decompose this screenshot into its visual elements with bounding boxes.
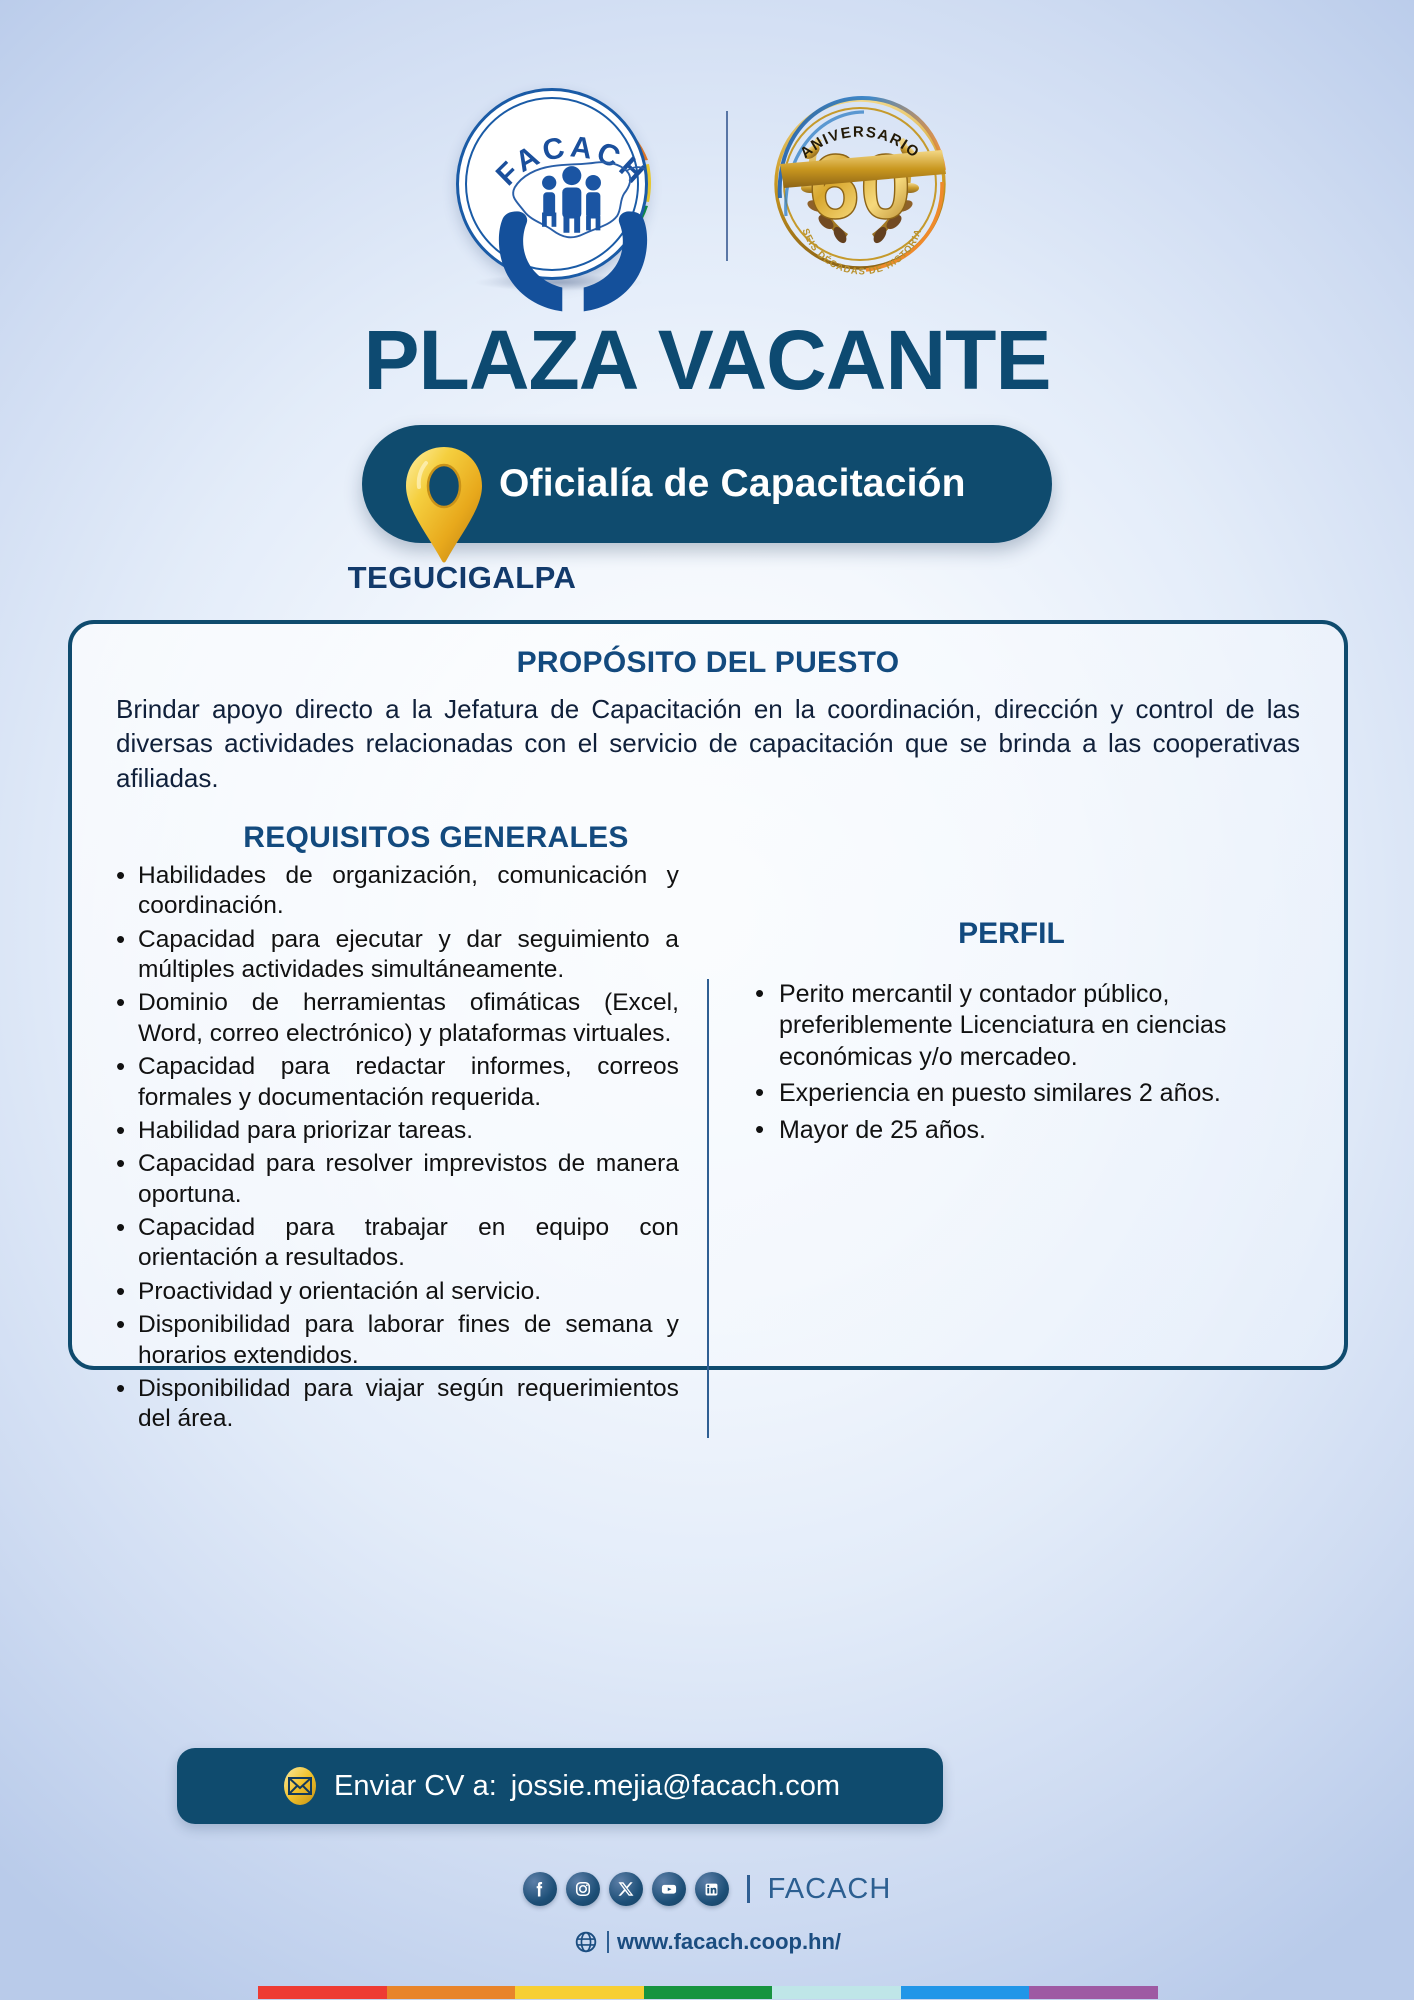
linkedin-icon[interactable] <box>695 1872 729 1906</box>
stripe-segment-blue <box>901 1986 1030 1999</box>
stripe-segment-cyan <box>772 1986 901 1999</box>
website-row[interactable]: www.facach.coop.hn/ <box>0 1929 1414 1955</box>
anniversary-logo: 60 ANIVERSARIO SEIS DÉCADAS DE HISTORIA <box>756 78 966 293</box>
svg-text:60: 60 <box>809 136 911 238</box>
facebook-icon[interactable] <box>523 1872 557 1906</box>
facach-logo: FACACH <box>448 78 698 293</box>
page-title: PLAZA VACANTE <box>0 312 1414 409</box>
list-item: Perito mercantil y contador público, pre… <box>749 979 1314 1074</box>
contact-email[interactable]: jossie.mejia@facach.com <box>511 1770 840 1803</box>
list-item: Capacidad para ejecutar y dar seguimient… <box>108 925 679 986</box>
details-card: PROPÓSITO DEL PUESTO Brindar apoyo direc… <box>68 620 1348 1370</box>
stripe-segment-green <box>644 1986 773 1999</box>
logo-divider <box>726 111 728 261</box>
website-divider <box>607 1931 609 1953</box>
list-item: Capacidad para redactar informes, correo… <box>108 1052 679 1113</box>
requirements-list: Habilidades de organización, comunicació… <box>108 861 679 1435</box>
list-item: Mayor de 25 años. <box>749 1115 1314 1147</box>
social-row: FACACH <box>0 1872 1414 1906</box>
profile-column: PERFIL Perito mercantil y contador públi… <box>707 979 1314 1438</box>
logo-row: FACACH <box>0 78 1414 293</box>
list-item: Capacidad para trabajar en equipo con or… <box>108 1213 679 1274</box>
purpose-heading: PROPÓSITO DEL PUESTO <box>102 646 1314 680</box>
poster-root: FACACH <box>0 0 1414 2000</box>
list-item: Capacidad para resolver imprevistos de m… <box>108 1149 679 1210</box>
city-label: TEGUCIGALPA <box>0 560 1414 596</box>
profile-list: Perito mercantil y contador público, pre… <box>749 979 1314 1147</box>
list-item: Proactividad y orientación al servicio. <box>108 1277 679 1307</box>
facach-emblem-artwork: FACACH <box>448 78 698 330</box>
instagram-icon[interactable] <box>566 1872 600 1906</box>
footer-divider <box>747 1875 750 1903</box>
list-item: Habilidad para priorizar tareas. <box>108 1116 679 1146</box>
stripe-segment-purple <box>1029 1986 1158 1999</box>
anniversary-badge-artwork: 60 ANIVERSARIO SEIS DÉCADAS DE HISTORIA <box>756 78 966 293</box>
position-pill: Oficialía de Capacitación <box>362 425 1052 543</box>
location-pin-icon <box>398 443 490 568</box>
stripe-segment-red <box>258 1986 387 1999</box>
contact-bar[interactable]: Enviar CV a: jossie.mejia@facach.com <box>177 1748 943 1824</box>
list-item: Disponibilidad para laborar fines de sem… <box>108 1310 679 1371</box>
list-item: Disponibilidad para viajar según requeri… <box>108 1374 679 1435</box>
list-item: Dominio de herramientas ofimáticas (Exce… <box>108 988 679 1049</box>
card-columns: Habilidades de organización, comunicació… <box>102 861 1314 1438</box>
footer-brand: FACACH <box>768 1873 892 1906</box>
globe-icon <box>573 1929 599 1955</box>
position-banner: Oficialía de Capacitación <box>0 425 1414 543</box>
profile-heading: PERFIL <box>709 917 1314 951</box>
list-item: Experiencia en puesto similares 2 años. <box>749 1078 1314 1110</box>
color-stripe <box>258 1986 1158 1999</box>
stripe-segment-orange <box>387 1986 516 1999</box>
position-label: Oficialía de Capacitación <box>499 462 966 506</box>
envelope-icon <box>280 1766 320 1806</box>
stripe-segment-yellow <box>515 1986 644 1999</box>
requirements-heading: REQUISITOS GENERALES <box>102 821 1314 855</box>
contact-label: Enviar CV a: <box>334 1770 497 1803</box>
x-twitter-icon[interactable] <box>609 1872 643 1906</box>
purpose-body: Brindar apoyo directo a la Jefatura de C… <box>102 692 1314 795</box>
website-url[interactable]: www.facach.coop.hn/ <box>617 1929 841 1955</box>
requirements-column: Habilidades de organización, comunicació… <box>102 861 679 1438</box>
youtube-icon[interactable] <box>652 1872 686 1906</box>
list-item: Habilidades de organización, comunicació… <box>108 861 679 922</box>
